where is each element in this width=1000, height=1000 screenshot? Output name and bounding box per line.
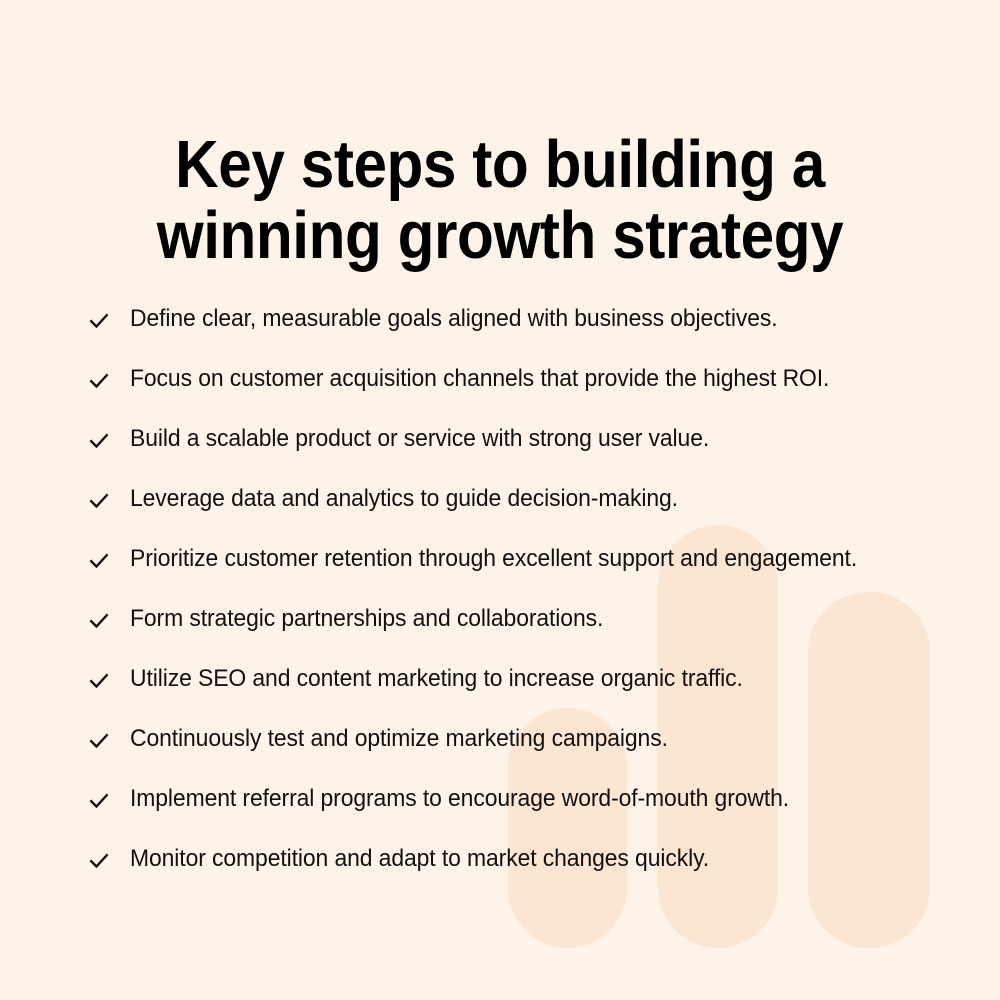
list-item: Prioritize customer retention through ex…: [88, 546, 960, 606]
list-item-label: Monitor competition and adapt to market …: [130, 846, 923, 872]
list-item: Focus on customer acquisition channels t…: [88, 366, 960, 426]
list-item: Implement referral programs to encourage…: [88, 786, 960, 846]
check-icon: [88, 670, 130, 696]
list-item: Build a scalable product or service with…: [88, 426, 960, 486]
list-item: Utilize SEO and content marketing to inc…: [88, 666, 960, 726]
check-icon: [88, 490, 130, 516]
check-icon: [88, 850, 130, 876]
list-item: Continuously test and optimize marketing…: [88, 726, 960, 786]
poster-content: Key steps to building a winning growth s…: [0, 0, 1000, 1000]
check-icon: [88, 730, 130, 756]
check-icon: [88, 430, 130, 456]
list-item-label: Focus on customer acquisition channels t…: [130, 366, 923, 392]
list-item: Define clear, measurable goals aligned w…: [88, 306, 960, 366]
poster-canvas: Key steps to building a winning growth s…: [0, 0, 1000, 1000]
check-icon: [88, 370, 130, 396]
check-icon: [88, 310, 130, 336]
page-title: Key steps to building a winning growth s…: [50, 129, 950, 271]
list-item-label: Define clear, measurable goals aligned w…: [130, 306, 923, 332]
list-item: Form strategic partnerships and collabor…: [88, 606, 960, 666]
list-item-label: Utilize SEO and content marketing to inc…: [130, 666, 923, 692]
list-item-label: Continuously test and optimize marketing…: [130, 726, 923, 752]
check-icon: [88, 550, 130, 576]
list-item-label: Build a scalable product or service with…: [130, 426, 923, 452]
checklist: Define clear, measurable goals aligned w…: [88, 306, 960, 906]
check-icon: [88, 610, 130, 636]
list-item: Monitor competition and adapt to market …: [88, 846, 960, 906]
check-icon: [88, 790, 130, 816]
list-item-label: Implement referral programs to encourage…: [130, 786, 923, 812]
list-item-label: Prioritize customer retention through ex…: [130, 546, 923, 572]
list-item: Leverage data and analytics to guide dec…: [88, 486, 960, 546]
list-item-label: Form strategic partnerships and collabor…: [130, 606, 923, 632]
list-item-label: Leverage data and analytics to guide dec…: [130, 486, 923, 512]
